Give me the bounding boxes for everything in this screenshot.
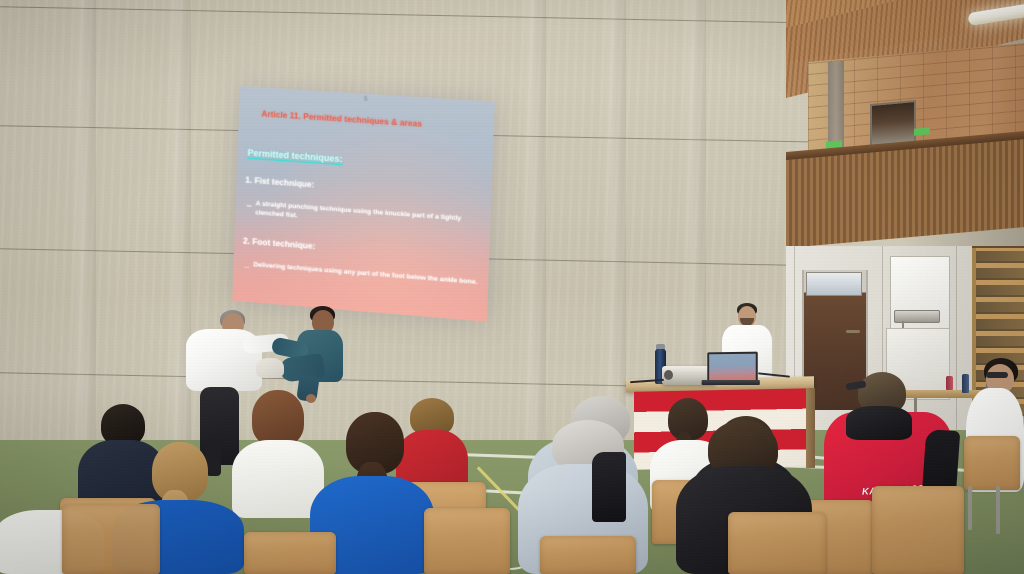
slide-point-2: 2. Foot technique:: [243, 236, 316, 252]
chair[interactable]: [244, 532, 336, 574]
slide-number: 5: [364, 97, 368, 103]
curtain-fold: [520, 0, 546, 470]
water-bottle: [962, 374, 969, 393]
slide-point-1: 1. Fist technique:: [245, 175, 314, 190]
slide-title: Article 11. Permitted techniques & areas: [261, 109, 481, 132]
exit-sign-icon: [914, 127, 930, 135]
cup: [946, 376, 953, 390]
chair[interactable]: [540, 536, 636, 574]
slide-point-1-detail: A straight punching technique using the …: [255, 200, 480, 234]
jacket-hood: [846, 406, 912, 440]
chair[interactable]: [424, 508, 510, 574]
chair[interactable]: [62, 504, 160, 574]
door-handle[interactable]: [846, 330, 860, 333]
instructor-leg: [206, 440, 221, 476]
bullet-dash-icon: [245, 266, 250, 268]
bullet-dash-icon: [247, 205, 252, 207]
projection-screen: 5 Article 11. Permitted techniques & are…: [232, 86, 495, 322]
chair-leg: [996, 486, 1000, 534]
dark-collar: [592, 452, 626, 522]
slide-heading: Permitted techniques:: [247, 148, 342, 164]
chair[interactable]: [872, 486, 964, 574]
grappling-hands: [256, 358, 284, 378]
slide-point-2-detail: Delivering techniques using any part of …: [253, 261, 480, 288]
chair[interactable]: [964, 436, 1020, 490]
wall-mounted-device: [894, 310, 940, 323]
curtain-fold: [165, 0, 191, 470]
presentation-laptop-base[interactable]: [702, 380, 760, 385]
chair-leg: [968, 486, 972, 530]
door-window: [806, 272, 862, 296]
student-bare-foot: [306, 394, 316, 403]
eyeglasses-icon: [986, 372, 1008, 378]
hair: [252, 390, 304, 446]
chair[interactable]: [728, 512, 826, 574]
curtain-fold: [70, 0, 96, 470]
projector-lens-icon: [664, 370, 673, 380]
panel-divider: [956, 246, 957, 446]
gymnasium-lecture-scene: 5 Article 11. Permitted techniques & are…: [0, 0, 1024, 574]
desk-side-edge: [806, 388, 815, 468]
